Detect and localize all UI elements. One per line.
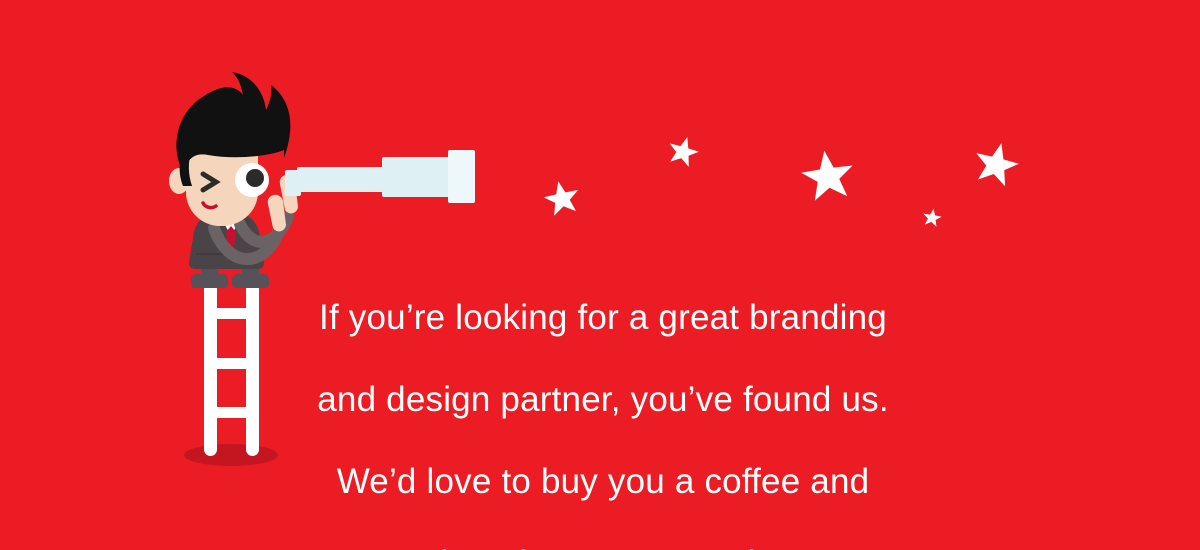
- ladder-rung-bottom: [204, 407, 259, 418]
- shoe-right-icon: [232, 274, 269, 288]
- banner-root: If you’re looking for a great branding a…: [0, 0, 1200, 550]
- headline-text: If you’re looking for a great branding a…: [278, 256, 928, 550]
- headline-line-1: If you’re looking for a great branding: [278, 297, 928, 338]
- telescope-segment-1: [297, 167, 386, 192]
- telescope-objective: [448, 150, 475, 203]
- ladder-rung-middle: [204, 358, 259, 369]
- telescope-segment-2: [382, 157, 453, 197]
- headline-line-3: We’d love to buy you a coffee and: [278, 461, 928, 502]
- eye-pupil: [246, 169, 264, 187]
- headline-line-4: chat about your needs.: [278, 543, 928, 550]
- headline-line-2: and design partner, you’ve found us.: [278, 379, 928, 420]
- ground-shadow: [184, 444, 278, 466]
- shoe-left-icon: [191, 274, 228, 288]
- ladder-rung-top: [204, 308, 259, 319]
